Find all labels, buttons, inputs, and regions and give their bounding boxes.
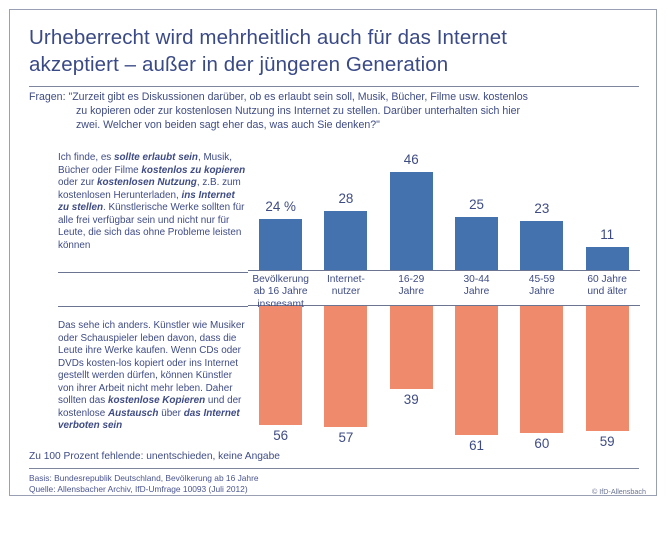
missing-to-100-note: Zu 100 Prozent fehlende: unentschieden, … (29, 451, 280, 462)
footer-divider (29, 468, 639, 469)
bar-agree (586, 247, 629, 270)
bar-value-agree: 25 (444, 197, 509, 212)
category-label: Internet-nutzer (313, 274, 378, 299)
bar-disagree (455, 306, 498, 435)
chart-column: 24 %Bevölkerungab 16 Jahreinsgesamt56 (248, 114, 313, 466)
category-label: 60 Jahreund älter (575, 274, 640, 299)
bar-disagree (520, 306, 563, 433)
copyright-notice: © IfD-Allensbach (592, 487, 646, 496)
bar-disagree (324, 306, 367, 427)
bar-value-agree: 23 (509, 201, 574, 216)
bar-agree (259, 219, 302, 270)
bar-value-agree: 28 (313, 191, 378, 206)
bar-value-disagree: 57 (313, 430, 378, 445)
title-line-1: Urheberrecht wird mehrheitlich auch für … (29, 24, 639, 51)
statement-contra: Das sehe ich anders. Künstler wie Musike… (58, 320, 248, 433)
statement-divider-bottom (58, 306, 248, 307)
bar-value-disagree: 61 (444, 438, 509, 453)
bar-disagree (390, 306, 433, 389)
bar-value-disagree: 60 (509, 436, 574, 451)
bar-agree (520, 221, 563, 270)
chart-column: 28Internet-nutzer57 (313, 114, 378, 466)
bar-disagree (586, 306, 629, 431)
chart-column: 4616-29Jahre39 (379, 114, 444, 466)
statement-pro: Ich finde, es sollte erlaubt sein, Musik… (58, 152, 248, 252)
bar-value-disagree: 59 (575, 434, 640, 449)
infographic-frame: Urheberrecht wird mehrheitlich auch für … (9, 9, 657, 496)
source-block: Basis: Bundesrepublik Deutschland, Bevöl… (29, 473, 259, 495)
page-title: Urheberrecht wird mehrheitlich auch für … (29, 24, 639, 78)
bar-value-agree: 11 (575, 227, 640, 242)
bar-disagree (259, 306, 302, 425)
bar-agree (455, 217, 498, 270)
chart-column: 2530-44Jahre61 (444, 114, 509, 466)
source-quelle: Quelle: Allensbacher Archiv, IfD-Umfrage… (29, 484, 259, 495)
chart-column: 1160 Jahreund älter59 (575, 114, 640, 466)
source-basis: Basis: Bundesrepublik Deutschland, Bevöl… (29, 473, 259, 484)
bar-value-agree: 24 % (248, 199, 313, 214)
category-label: 30-44Jahre (444, 274, 509, 299)
category-label: 16-29Jahre (379, 274, 444, 299)
statement-divider-top (58, 272, 248, 273)
chart-column: 2345-59Jahre60 (509, 114, 574, 466)
question-line-1: Fragen: "Zurzeit gibt es Diskussionen da… (29, 90, 641, 104)
bar-value-agree: 46 (379, 152, 444, 167)
bar-value-disagree: 39 (379, 392, 444, 407)
bar-value-disagree: 56 (248, 428, 313, 443)
category-label: 45-59Jahre (509, 274, 574, 299)
bar-agree (324, 211, 367, 270)
title-line-2: akzeptiert – außer in der jüngeren Gener… (29, 51, 639, 78)
diverging-bar-chart: 24 %Bevölkerungab 16 Jahreinsgesamt5628I… (248, 114, 640, 466)
bar-agree (390, 172, 433, 270)
title-divider (29, 86, 639, 87)
